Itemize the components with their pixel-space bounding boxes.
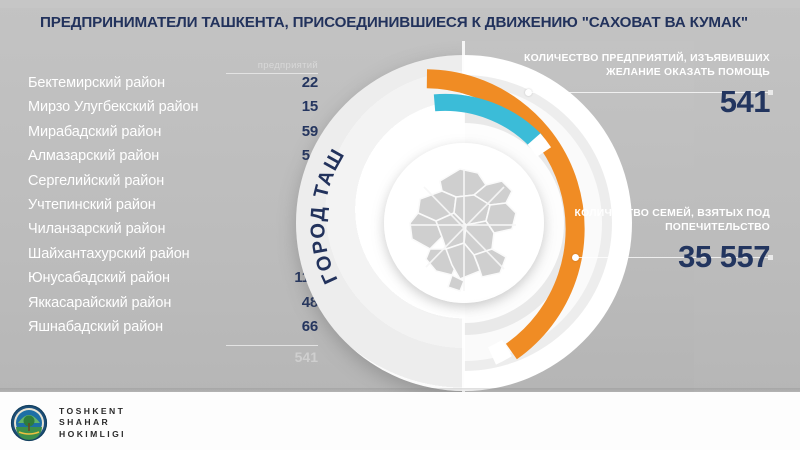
table-row: Яккасарайский район 48 (28, 294, 318, 318)
district-name: Шайхантахурский район (28, 246, 190, 262)
district-name: Чиланзарский район (28, 221, 165, 237)
table-row: Мирзо Улугбекский район 15 (28, 98, 318, 122)
top-strip (0, 0, 800, 8)
table-row: Алмазарский район 54 (28, 147, 318, 171)
table-row: Яшнабадский район 66 (28, 318, 318, 342)
table-row: Шайхантахурский район 30 (28, 245, 318, 269)
table-row: Юнусабадский район 116 (28, 269, 318, 293)
footer-line-3: HOKIMLIGI (59, 429, 126, 441)
table-row: Мирабадский район 59 (28, 123, 318, 147)
callout-enterprises: КОЛИЧЕСТВО ПРЕДПРИЯТИЙ, ИЗЪЯВИВШИХ ЖЕЛАН… (470, 52, 770, 117)
table-row: Чиланзарский район 28 (28, 220, 318, 244)
callout-families-value: 35 557 (570, 241, 770, 272)
callout-enterprises-value: 541 (470, 86, 770, 117)
table-row: Учтепинский район 62 (28, 196, 318, 220)
hokimligi-emblem-icon (10, 404, 48, 442)
infographic-canvas: ПРЕДПРИНИМАТЕЛИ ТАШКЕНТА, ПРИСОЕДИНИВШИЕ… (0, 0, 800, 450)
callout-families-label: КОЛИЧЕСТВО СЕМЕЙ, ВЗЯТЫХ ПОД ПОПЕЧИТЕЛЬС… (570, 207, 770, 234)
footer-line-1: TOSHKENT (59, 406, 126, 418)
district-list: предприятий Бектемирский район 22 Мирзо … (28, 60, 318, 365)
district-name: Мирзо Улугбекский район (28, 99, 198, 115)
footer-branding: TOSHKENT SHAHAR HOKIMLIGI (10, 404, 126, 442)
footer-line-2: SHAHAR (59, 417, 126, 429)
district-name: Алмазарский район (28, 148, 159, 164)
district-name: Сергелийский район (28, 173, 164, 189)
district-name: Юнусабадский район (28, 270, 170, 286)
district-name: Мирабадский район (28, 124, 161, 140)
callout-enterprises-label: КОЛИЧЕСТВО ПРЕДПРИЯТИЙ, ИЗЪЯВИВШИХ ЖЕЛАН… (470, 52, 770, 79)
district-name: Яккасарайский район (28, 295, 171, 311)
page-title: ПРЕДПРИНИМАТЕЛИ ТАШКЕНТА, ПРИСОЕДИНИВШИЕ… (40, 14, 770, 31)
district-name: Бектемирский район (28, 75, 165, 91)
district-name: Яшнабадский район (28, 319, 163, 335)
footer-text: TOSHKENT SHAHAR HOKIMLIGI (59, 406, 126, 441)
callout-families: КОЛИЧЕСТВО СЕМЕЙ, ВЗЯТЫХ ПОД ПОПЕЧИТЕЛЬС… (570, 207, 770, 272)
district-name: Учтепинский район (28, 197, 156, 213)
table-row: Сергелийский район 41 (28, 172, 318, 196)
table-row: Бектемирский район 22 (28, 74, 318, 98)
